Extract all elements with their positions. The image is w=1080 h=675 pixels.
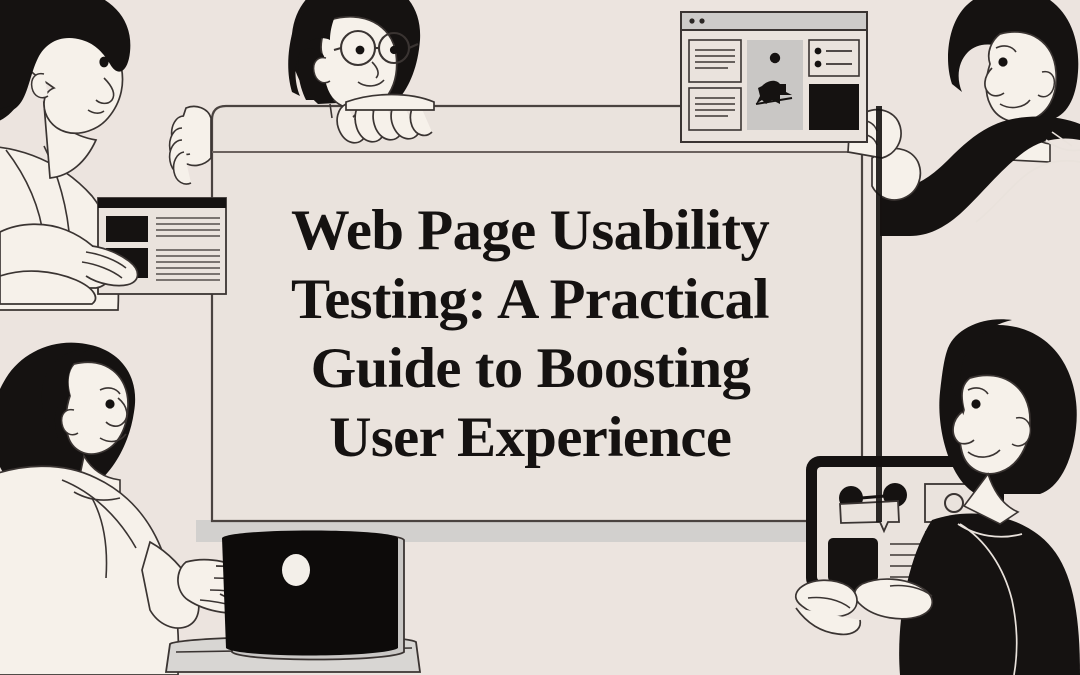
illustration-canvas: Web Page Usability Testing: A Practical … bbox=[0, 0, 1080, 675]
whiteboard bbox=[212, 106, 862, 521]
hero-illustration bbox=[0, 0, 1080, 675]
black-tile[interactable] bbox=[809, 84, 859, 130]
tablet-black-tile[interactable] bbox=[828, 538, 878, 582]
card-image-1 bbox=[106, 216, 148, 242]
window-dot-2 bbox=[699, 18, 704, 23]
sun-dot bbox=[770, 53, 780, 63]
image-placeholder bbox=[747, 40, 803, 130]
window-dot-1 bbox=[689, 18, 694, 23]
card-header-bar bbox=[98, 198, 226, 208]
board-right-edge bbox=[876, 106, 882, 522]
text-block-2 bbox=[689, 88, 741, 130]
browser-window-mockup[interactable] bbox=[681, 12, 867, 142]
cursor-dot bbox=[282, 554, 310, 586]
text-block-1 bbox=[689, 40, 741, 82]
bullet-list bbox=[809, 40, 859, 76]
laptop-screen[interactable] bbox=[222, 531, 398, 656]
